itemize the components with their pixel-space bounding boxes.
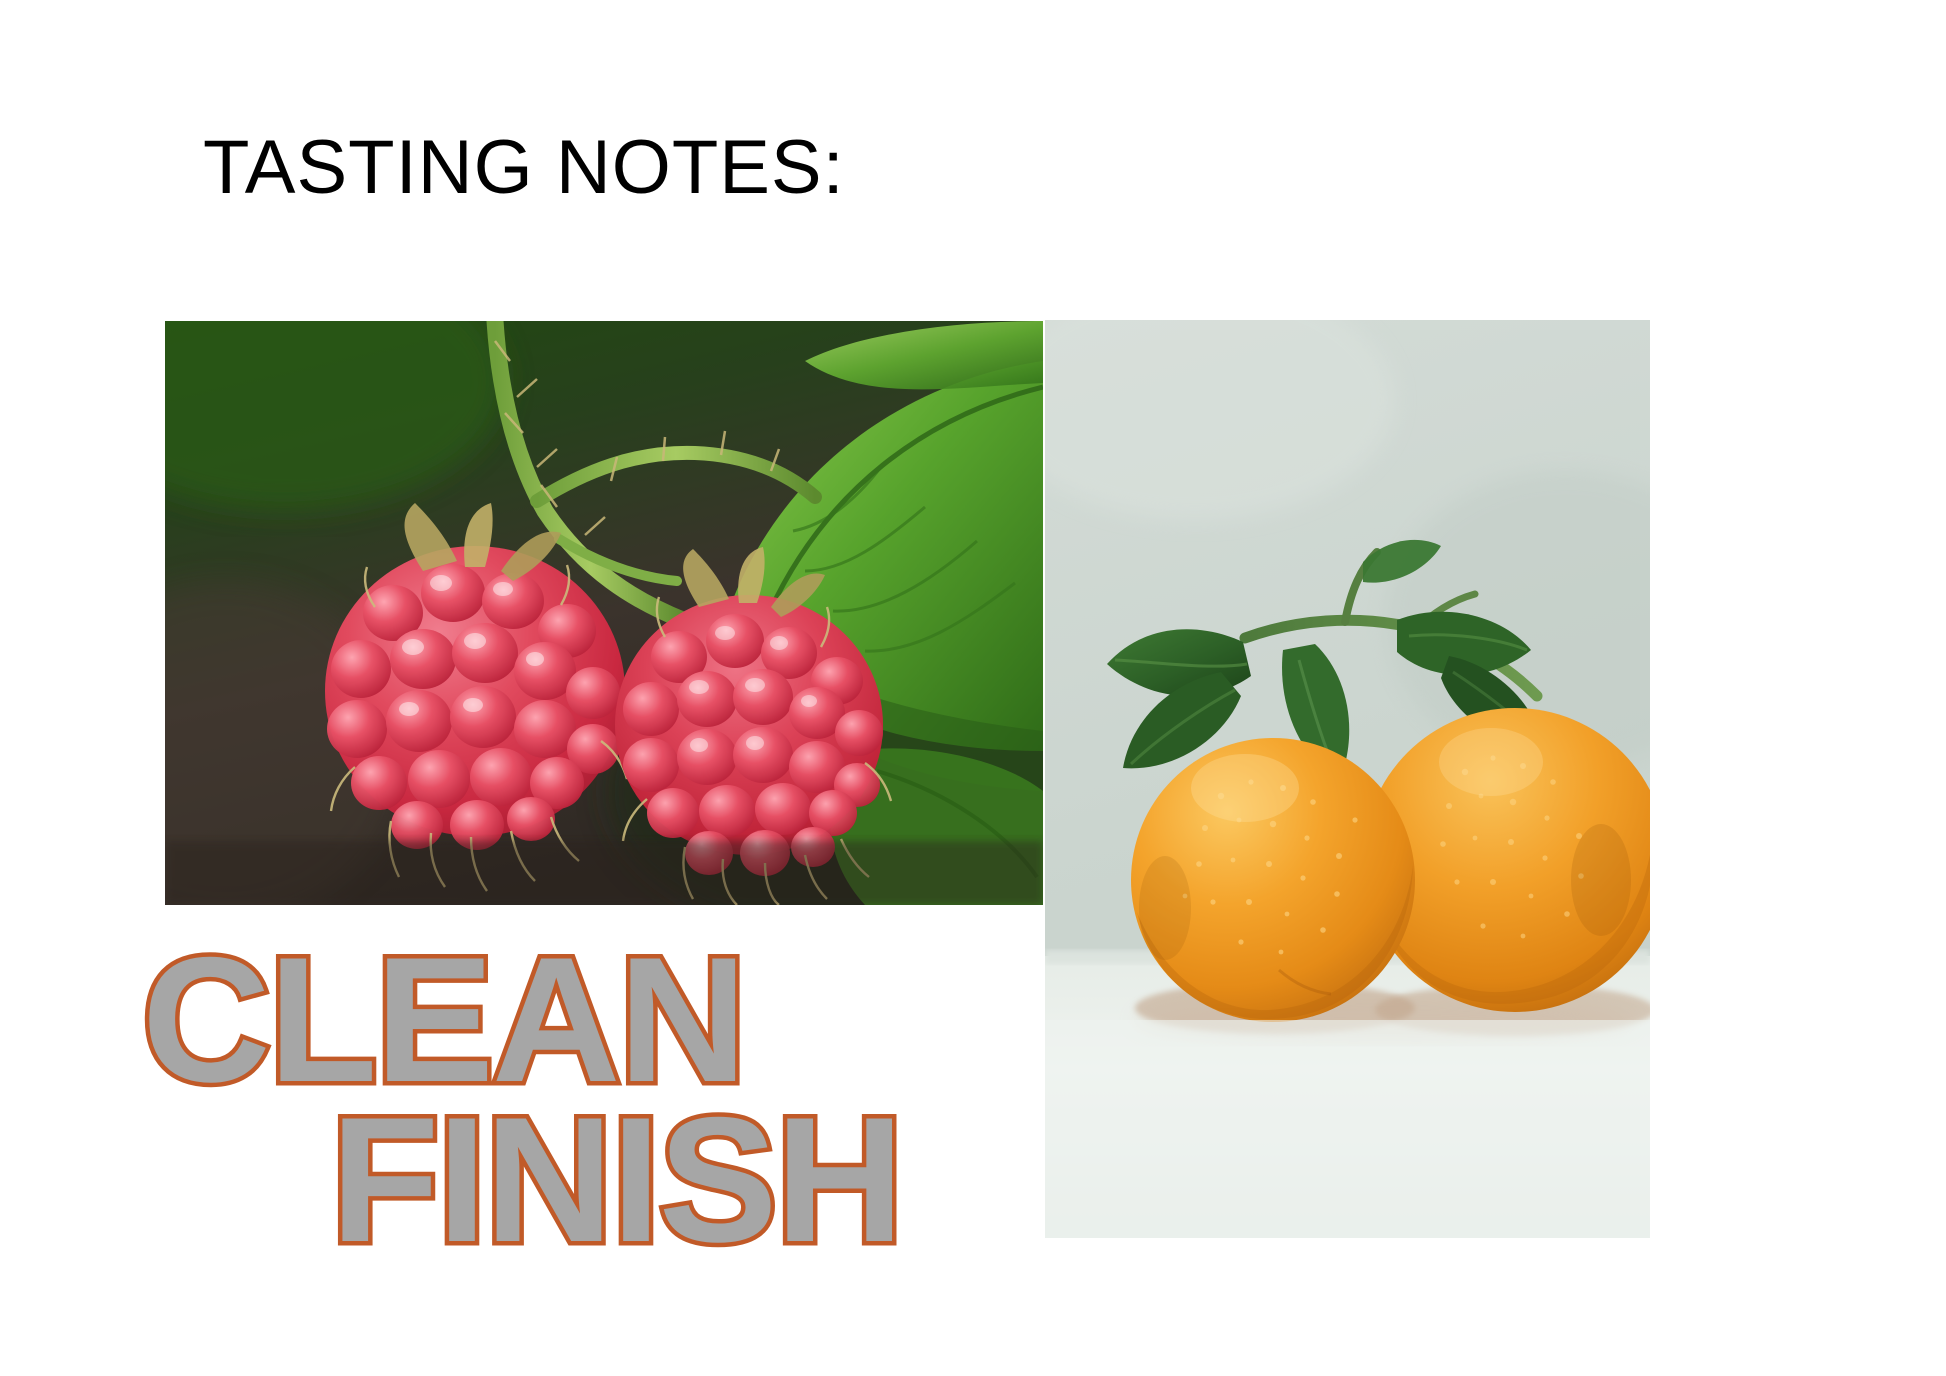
oranges-photo[interactable] xyxy=(1045,320,1650,1238)
raspberries-photo[interactable] xyxy=(165,321,1043,905)
headline-line-finish: FINISH xyxy=(142,1100,902,1260)
orange-left xyxy=(1131,738,1415,1022)
headline-block: CLEAN FINISH xyxy=(142,940,902,1260)
page-title: TASTING NOTES: xyxy=(203,128,845,208)
oranges-illustration xyxy=(1045,320,1650,1238)
slide-canvas: TASTING NOTES: xyxy=(0,0,1946,1376)
raspberries-illustration xyxy=(165,321,1043,905)
headline-line-clean: CLEAN xyxy=(142,940,902,1100)
